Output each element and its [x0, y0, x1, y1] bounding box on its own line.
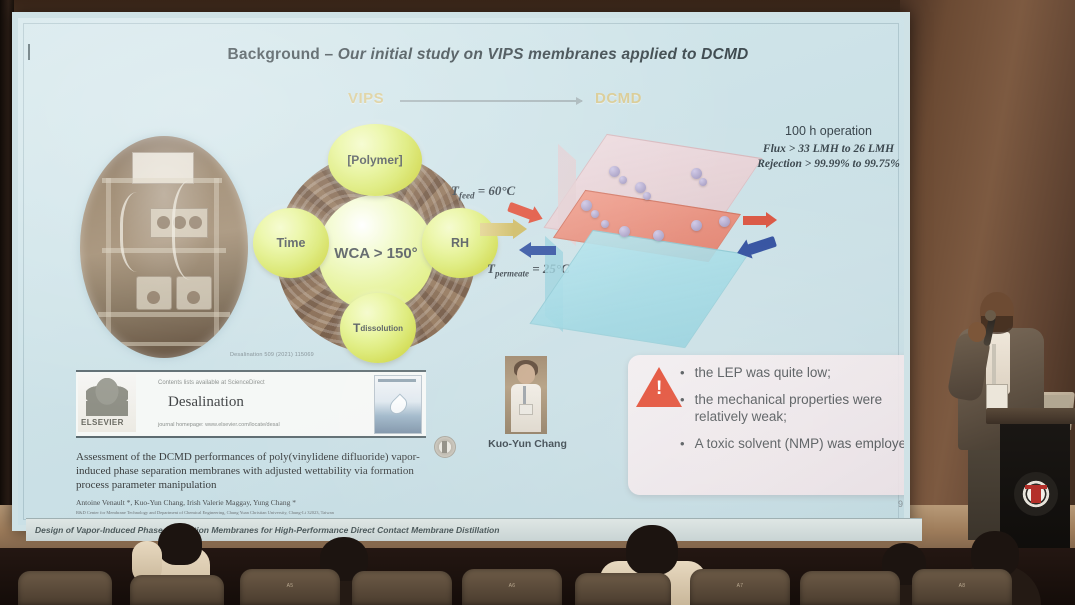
diagram-bubble-time: Time: [253, 208, 329, 278]
permeate-outlet-arrow-icon: [530, 246, 556, 255]
lab-rack-post: [106, 178, 111, 348]
speaker-lanyard: [992, 344, 996, 388]
lab-rack-bar: [98, 312, 230, 317]
bullet-icon: •: [680, 392, 685, 425]
bullet-icon: •: [680, 436, 685, 452]
vapor-molecule-icon: [581, 200, 592, 211]
banner-title: Design of Vapor-Induced Phase Separation…: [35, 525, 499, 535]
chair-label: A6: [509, 583, 516, 589]
lab-pump: [136, 276, 172, 310]
chair: [130, 575, 224, 605]
diagram-citation: Desalination 509 (2021) 115069: [230, 352, 314, 358]
avatar-lanyard: [523, 386, 526, 406]
journal-homepage-line: journal homepage: www.elsevier.com/locat…: [158, 422, 280, 428]
bullet-icon: •: [680, 365, 685, 381]
limitation-text: the LEP was quite low;: [695, 365, 831, 381]
slide-surface: Background – Our initial study on VIPS m…: [18, 18, 904, 525]
list-item: • the mechanical properties were relativ…: [680, 392, 904, 425]
chair: A7: [690, 569, 790, 605]
chair: A6: [462, 569, 562, 605]
conference-room-photo: Background – Our initial study on VIPS m…: [0, 0, 1075, 605]
vapor-molecule-icon: [619, 176, 627, 184]
university-crest-icon: [1014, 472, 1058, 516]
t-permeate-symbol: T: [487, 261, 495, 276]
feed-outlet-arrow-icon: [743, 216, 767, 225]
vapor-molecule-icon: [601, 220, 609, 228]
lab-dial-icon: [187, 291, 200, 304]
chair: A5: [240, 569, 340, 605]
lab-tubing: [120, 192, 163, 272]
paper-affiliation: R&D Center for Membrane Technology and D…: [76, 510, 431, 515]
seal-mark: [442, 441, 447, 453]
t-feed-value: = 60°C: [474, 183, 515, 198]
crest-horizontal-mark: [1025, 485, 1047, 489]
university-seal-icon: [434, 436, 456, 458]
chair: A8: [912, 569, 1012, 605]
flow-label-vips: VIPS: [348, 90, 384, 107]
vapor-molecule-icon: [609, 166, 620, 177]
t-feed-subscript: feed: [459, 191, 475, 201]
vapor-molecule-icon: [591, 210, 599, 218]
diagram-bubble-tdissolution: Tdissolution: [340, 293, 416, 363]
t-feed-symbol: T: [451, 183, 459, 198]
projection-screen: Background – Our initial study on VIPS m…: [12, 12, 910, 531]
diagram-bubble-polymer: [Polymer]: [328, 124, 422, 196]
limitations-list: • the LEP was quite low; • the mechanica…: [680, 365, 904, 464]
elsevier-wordmark: ELSEVIER: [81, 418, 124, 427]
microphone-head-icon: [985, 310, 996, 321]
elsevier-tree-icon: [86, 378, 128, 416]
limitation-text: the mechanical properties were relativel…: [695, 392, 904, 425]
lab-dial-icon: [147, 291, 160, 304]
list-item: • the LEP was quite low;: [680, 365, 904, 381]
vapor-molecule-icon: [699, 178, 707, 186]
paper-reference-block: Assessment of the DCMD performances of p…: [76, 450, 431, 515]
transfer-arrow-icon: [480, 223, 514, 236]
journal-header-card: ELSEVIER Contents lists available at Sci…: [76, 370, 426, 438]
limitations-callout-card: ! • the LEP was quite low; • the mechani…: [628, 355, 904, 495]
journal-contents-line: Contents lists available at ScienceDirec…: [158, 380, 265, 386]
title-prefix: Background –: [228, 46, 338, 63]
audience-head: [158, 523, 202, 565]
flow-arrow-icon: [400, 100, 582, 102]
page-title: Background – Our initial study on VIPS m…: [138, 46, 838, 64]
chair: [575, 573, 671, 605]
portrait-name-label: Kuo-Yun Chang: [480, 438, 575, 450]
journal-cover-bar: [378, 379, 416, 382]
results-heading: 100 h operation: [736, 124, 904, 138]
slide-page-number: 9: [898, 499, 903, 509]
vapor-molecule-icon: [635, 182, 646, 193]
list-item: • A toxic solvent (NMP) was employed.: [680, 436, 904, 452]
paper-title: Assessment of the DCMD performances of p…: [76, 450, 431, 492]
lab-rack-bar: [94, 342, 234, 346]
tdissolution-sub: dissolution: [360, 324, 403, 333]
vapor-molecule-icon: [619, 226, 630, 237]
vapor-molecule-icon: [691, 220, 702, 231]
lab-equipment-photo: [80, 136, 248, 358]
title-italic: Our initial study on VIPS membranes appl…: [338, 46, 749, 63]
chair: [18, 571, 112, 605]
paper-authors: Antoine Venault *, Kuo-Yun Chang, Irish …: [76, 498, 431, 507]
vapor-molecule-icon: [653, 230, 664, 241]
warning-exclamation-icon: !: [656, 379, 662, 398]
journal-cover-thumbnail: [374, 375, 422, 434]
limitation-text: A toxic solvent (NMP) was employed.: [695, 436, 904, 452]
avatar: [505, 356, 547, 434]
journal-name: Desalination: [168, 394, 244, 411]
flow-label-dcmd: DCMD: [595, 90, 642, 107]
avatar-head: [517, 364, 535, 384]
lab-pump: [176, 276, 212, 310]
chair-label: A7: [737, 583, 744, 589]
slide-corner-mark: [28, 44, 30, 60]
audience-head: [626, 525, 678, 575]
avatar-badge: [519, 404, 533, 415]
podium-top-surface: [986, 408, 1075, 424]
vapor-molecule-icon: [719, 216, 730, 227]
lab-tubing: [172, 180, 219, 280]
vapor-molecule-icon: [643, 192, 651, 200]
chair-label: A8: [959, 583, 966, 589]
chair-label: A5: [287, 583, 294, 589]
chair: [352, 571, 452, 605]
tdissolution-main: T: [353, 321, 360, 335]
speaker-hand: [968, 322, 986, 342]
elsevier-logo: ELSEVIER: [78, 374, 136, 432]
results-rejection: Rejection > 99.99% to 99.75%: [736, 158, 904, 170]
vapor-molecule-icon: [691, 168, 702, 179]
label-t-feed: Tfeed = 60°C: [451, 183, 515, 201]
results-block: 100 h operation Flux > 33 LMH to 26 LMH …: [736, 124, 904, 173]
results-flux: Flux > 33 LMH to 26 LMH: [736, 143, 904, 155]
water-droplet-icon: [386, 393, 410, 417]
chair: [800, 571, 900, 605]
